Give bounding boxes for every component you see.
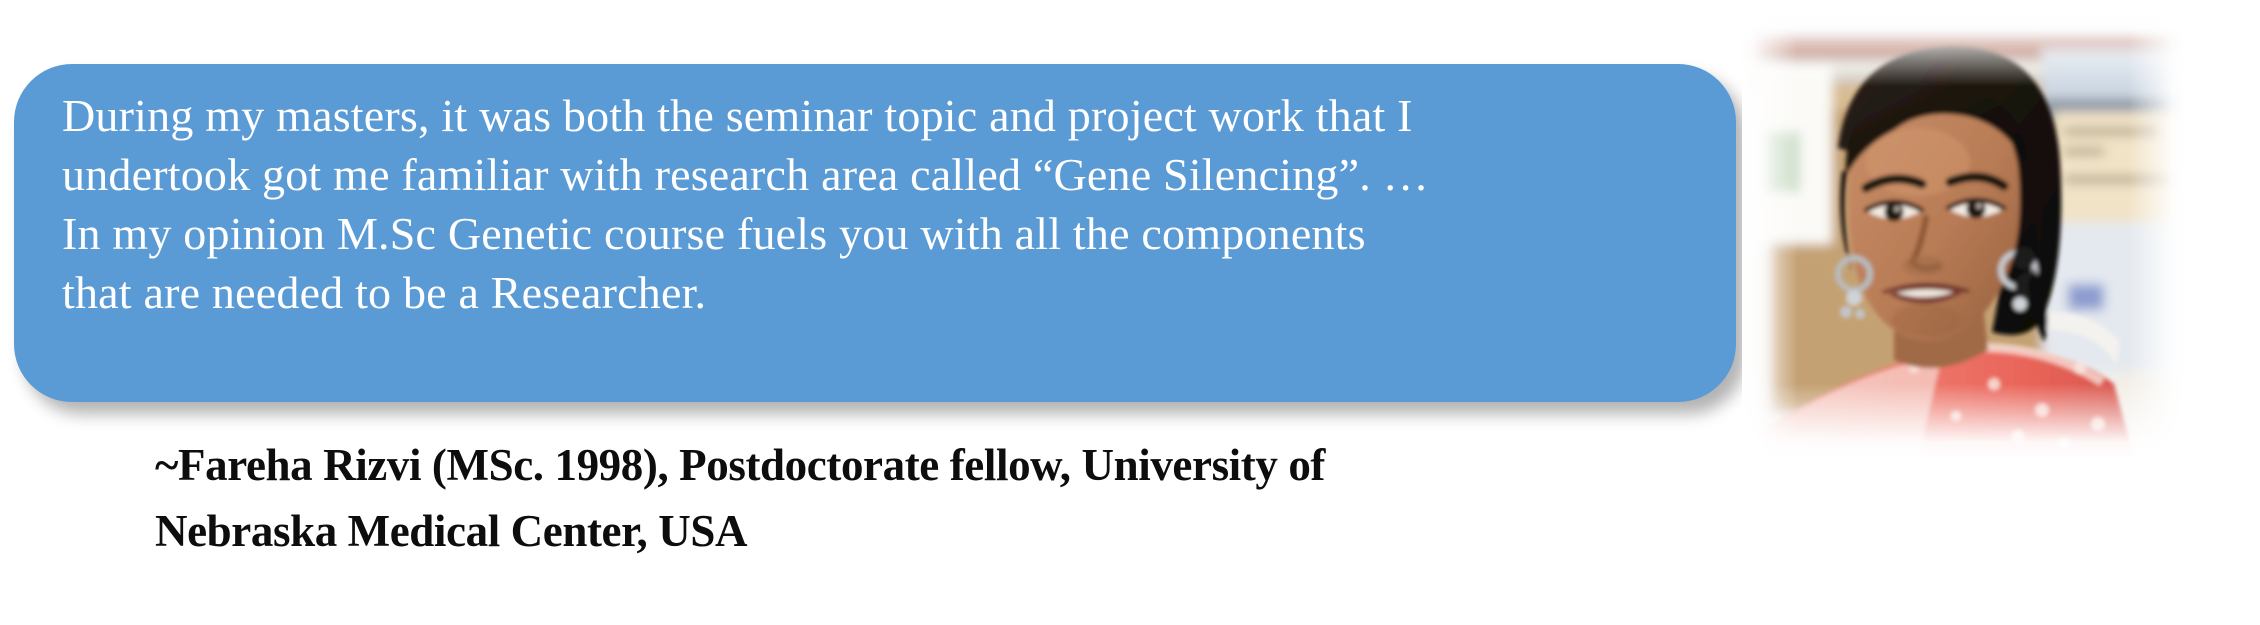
quote-text: During my masters, it was both the semin… xyxy=(62,86,1696,322)
portrait-photo-frame xyxy=(1742,12,2184,458)
portrait-photo xyxy=(1742,12,2184,458)
quote-bubble: During my masters, it was both the semin… xyxy=(14,64,1736,402)
attribution-text: ~Fareha Rizvi (MSc. 1998), Postdoctorate… xyxy=(155,432,1575,564)
testimonial-slide: During my masters, it was both the semin… xyxy=(0,0,2260,625)
